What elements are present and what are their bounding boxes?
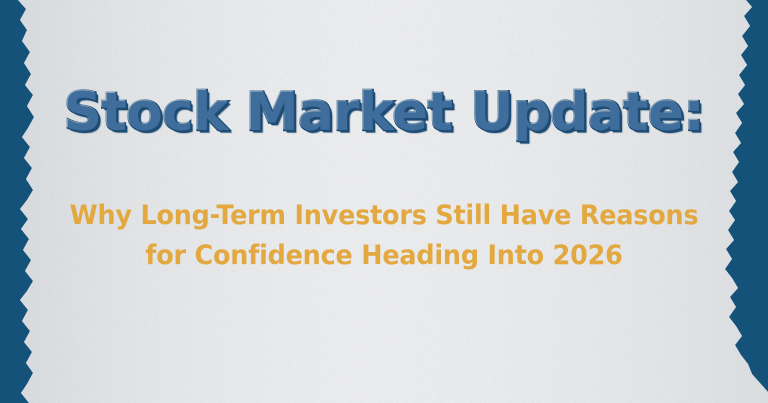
torn-paper-background bbox=[0, 0, 768, 403]
torn-paper-shape bbox=[0, 0, 768, 403]
stock-market-update-banner: Stock Market Update: Why Long-Term Inves… bbox=[0, 0, 768, 403]
